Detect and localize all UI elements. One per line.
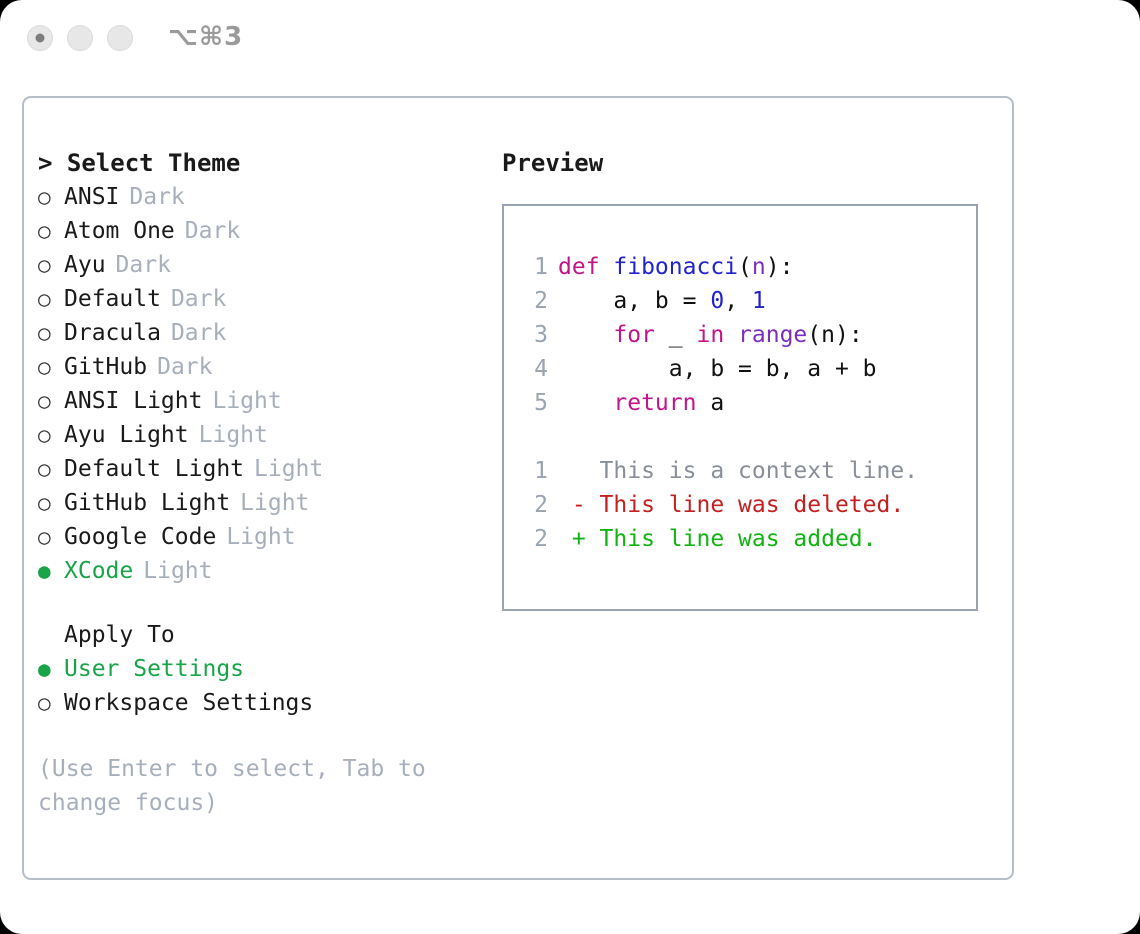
apply-to-option-label: Workspace Settings [64,686,313,720]
theme-option-label: XCode [64,554,133,588]
radio-unselected-icon: ○ [38,180,64,214]
code-sample: 1def fibonacci(n):2 a, b = 0, 13 for _ i… [524,250,976,420]
code-token: a, b = [558,288,710,314]
apply-to-option-label: User Settings [64,652,244,686]
code-line: 4 a, b = b, a + b [524,352,976,386]
apply-to-option-user-settings[interactable]: ●User Settings [38,652,478,686]
theme-list-column: > Select Theme ○ANSIDark○Atom OneDark○Ay… [38,146,478,820]
theme-option-github[interactable]: ○GitHubDark [38,350,478,384]
theme-option-github-light[interactable]: ○GitHub LightLight [38,486,478,520]
code-token: _ [655,322,697,348]
code-line-content: return a [558,386,724,420]
code-token: ( [738,254,752,280]
theme-option-default[interactable]: ○DefaultDark [38,282,478,316]
window-dot-active[interactable] [27,25,53,51]
theme-option-label: Atom One [64,214,175,248]
diff-line: 2 - This line was deleted. [524,488,976,522]
code-token: n [752,254,766,280]
radio-unselected-icon: ○ [38,686,64,720]
theme-option-label: GitHub Light [64,486,230,520]
code-token: 0 [710,288,724,314]
radio-unselected-icon: ○ [38,418,64,452]
code-token: for [613,322,655,348]
theme-option-label: ANSI [64,180,119,214]
keyboard-shortcut-label: ⌥⌘3 [168,22,243,52]
code-token: def [558,254,613,280]
code-token: range [738,322,807,348]
code-token: , [724,288,752,314]
theme-option-variant: Light [143,554,212,588]
theme-selector-panel: > Select Theme ○ANSIDark○Atom OneDark○Ay… [22,96,1014,880]
radio-unselected-icon: ○ [38,350,64,384]
theme-option-variant: Light [240,486,309,520]
theme-option-google-code[interactable]: ○Google CodeLight [38,520,478,554]
apply-to-header-label: Apply To [64,618,175,652]
radio-unselected-icon: ○ [38,384,64,418]
theme-option-label: ANSI Light [64,384,202,418]
diff-line-number: 2 [524,522,558,556]
theme-option-label: Dracula [64,316,161,350]
code-line-number: 4 [524,352,558,386]
preview-column: Preview 1def fibonacci(n):2 a, b = 0, 13… [502,146,1002,611]
code-line-content: def fibonacci(n): [558,250,793,284]
radio-unselected-icon: ○ [38,520,64,554]
theme-option-label: GitHub [64,350,147,384]
diff-line-content: - This line was deleted. [558,488,904,522]
theme-option-variant: Dark [185,214,240,248]
diff-line-number: 1 [524,454,558,488]
diff-line: 1 This is a context line. [524,454,976,488]
radio-selected-icon: ● [38,554,64,588]
diff-line-content: + This line was added. [558,522,877,556]
theme-option-label: Default [64,282,161,316]
code-token: return [613,390,696,416]
code-line-number: 3 [524,318,558,352]
code-line-number: 5 [524,386,558,420]
theme-option-variant: Dark [157,350,212,384]
diff-line: 2 + This line was added. [524,522,976,556]
radio-unselected-icon: ○ [38,248,64,282]
code-token [558,322,613,348]
theme-option-variant: Dark [116,248,171,282]
theme-option-variant: Dark [171,316,226,350]
code-line-content: a, b = 0, 1 [558,284,766,318]
theme-option-variant: Dark [129,180,184,214]
list-spacer [38,588,478,618]
radio-unselected-icon: ○ [38,452,64,486]
theme-option-label: Google Code [64,520,216,554]
theme-option-variant: Light [199,418,268,452]
keyboard-hint-text: (Use Enter to select, Tab to change focu… [38,752,448,820]
radio-unselected-icon: ○ [38,282,64,316]
theme-option-variant: Light [226,520,295,554]
apply-to-option-workspace-settings[interactable]: ○Workspace Settings [38,686,478,720]
theme-option-ansi[interactable]: ○ANSIDark [38,180,478,214]
code-token: ): [766,254,794,280]
theme-option-default-light[interactable]: ○Default LightLight [38,452,478,486]
code-line: 2 a, b = 0, 1 [524,284,976,318]
radio-unselected-icon: ○ [38,214,64,248]
radio-unselected-icon: ○ [38,486,64,520]
theme-option-ansi-light[interactable]: ○ANSI LightLight [38,384,478,418]
app-window: ⌥⌘3 > Select Theme ○ANSIDark○Atom OneDar… [0,0,1140,934]
code-diff-separator [524,420,976,454]
code-token [558,390,613,416]
diff-sample: 1 This is a context line.2 - This line w… [524,454,976,556]
theme-option-variant: Dark [171,282,226,316]
code-line-content: for _ in range(n): [558,318,863,352]
radio-unselected-icon: ○ [38,316,64,350]
window-dot-third[interactable] [107,25,133,51]
theme-option-variant: Light [212,384,281,418]
code-token: 1 [752,288,766,314]
apply-to-header-row: ○ Apply To [38,618,478,652]
preview-header: Preview [502,146,1002,180]
theme-list[interactable]: ○ANSIDark○Atom OneDark○AyuDark○DefaultDa… [38,180,478,588]
diff-line-content: This is a context line. [558,454,918,488]
code-token: in [696,322,724,348]
code-line: 3 for _ in range(n): [524,318,976,352]
preview-code-box: 1def fibonacci(n):2 a, b = 0, 13 for _ i… [502,204,978,611]
theme-option-xcode[interactable]: ●XCodeLight [38,554,478,588]
theme-option-atom-one[interactable]: ○Atom OneDark [38,214,478,248]
theme-option-ayu[interactable]: ○AyuDark [38,248,478,282]
window-dot-second[interactable] [67,25,93,51]
active-dot-icon [36,34,45,43]
code-token: a, b = b, a + b [558,356,877,382]
code-token: fibonacci [613,254,738,280]
theme-option-label: Default Light [64,452,244,486]
select-theme-header: > Select Theme [38,146,478,180]
theme-option-label: Ayu Light [64,418,189,452]
diff-line-number: 2 [524,488,558,522]
code-line-number: 2 [524,284,558,318]
theme-option-variant: Light [254,452,323,486]
theme-option-label: Ayu [64,248,106,282]
apply-to-list[interactable]: ●User Settings○Workspace Settings [38,652,478,720]
theme-option-dracula[interactable]: ○DraculaDark [38,316,478,350]
code-line: 5 return a [524,386,976,420]
theme-option-ayu-light[interactable]: ○Ayu LightLight [38,418,478,452]
radio-selected-icon: ● [38,652,64,686]
code-line-content: a, b = b, a + b [558,352,877,386]
code-token: a [696,390,724,416]
title-bar: ⌥⌘3 [0,0,1140,78]
code-token [724,322,738,348]
code-token: (n): [807,322,862,348]
code-line-number: 1 [524,250,558,284]
code-line: 1def fibonacci(n): [524,250,976,284]
